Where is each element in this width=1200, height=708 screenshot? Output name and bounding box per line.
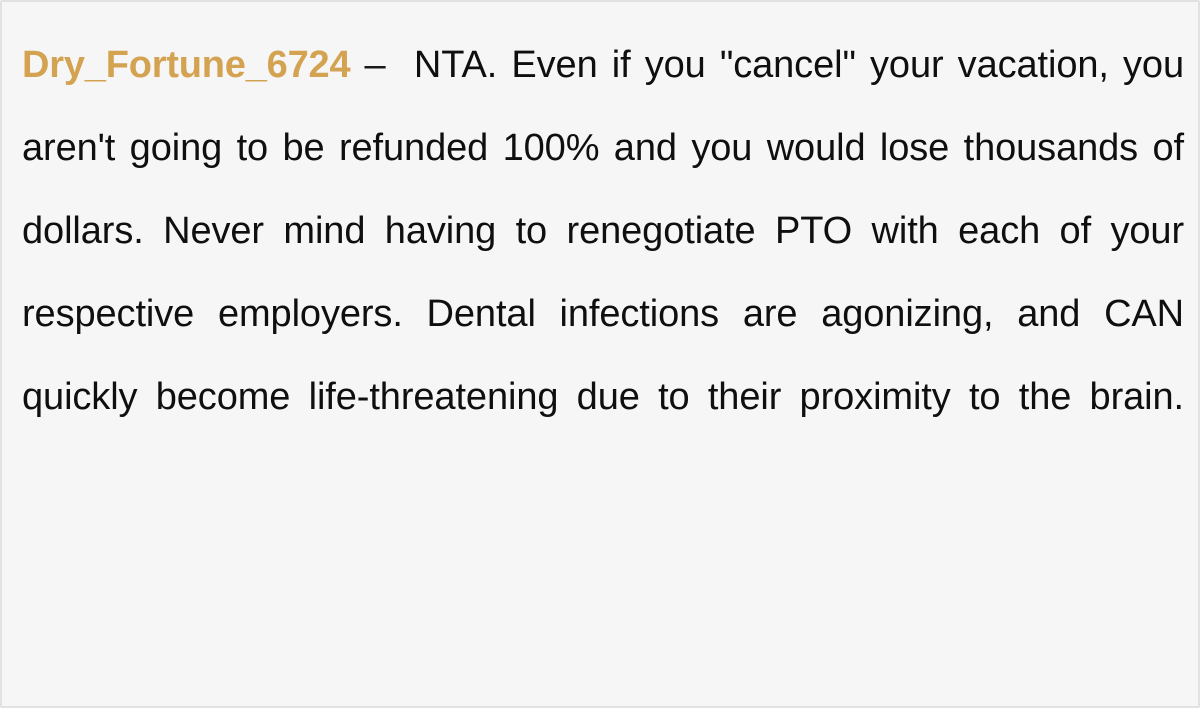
- comment-card: Dry_Fortune_6724 – NTA. Even if you "can…: [0, 0, 1200, 708]
- comment-text: NTA. Even if you "cancel" your vacation,…: [22, 44, 1184, 418]
- comment-author-username[interactable]: Dry_Fortune_6724: [22, 44, 350, 86]
- comment-author-separator: –: [350, 44, 414, 86]
- comment-body: Dry_Fortune_6724 – NTA. Even if you "can…: [22, 24, 1184, 522]
